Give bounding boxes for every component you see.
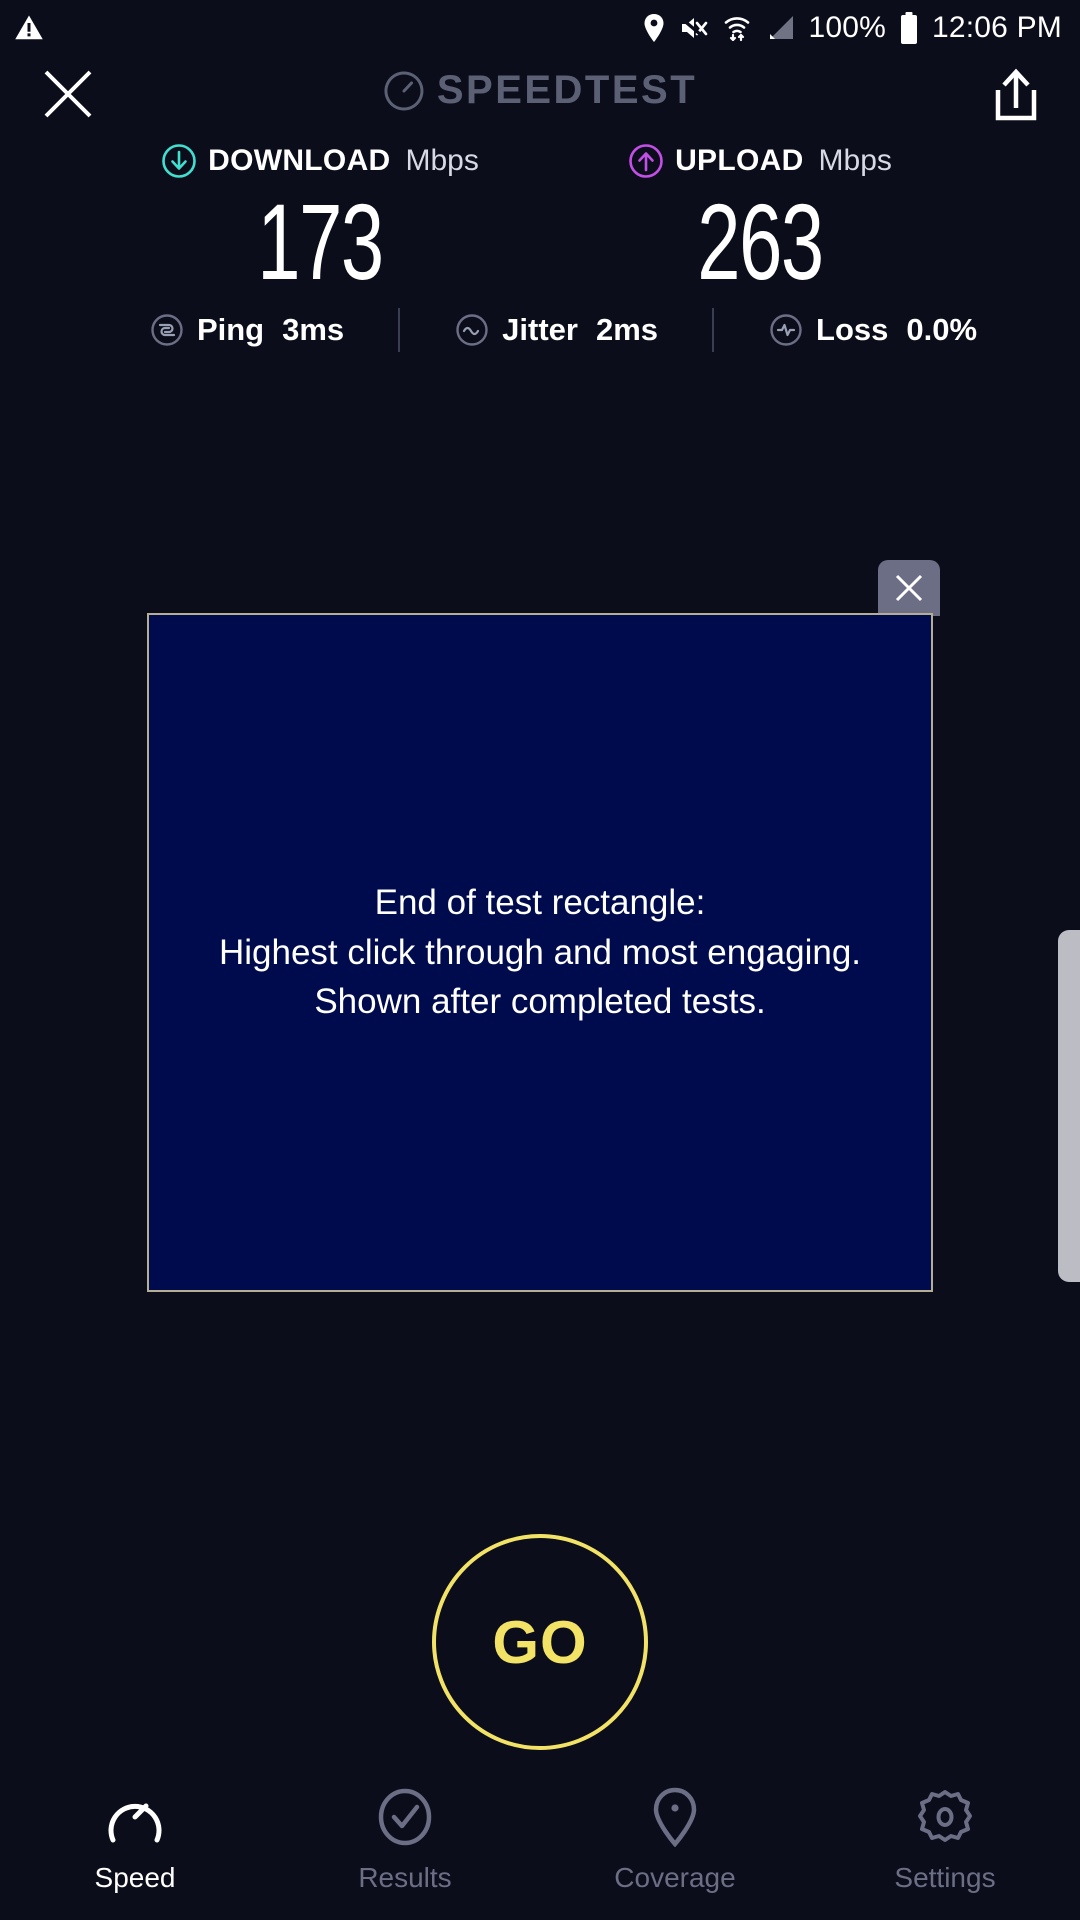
status-bar: 100% 12:06 PM	[0, 0, 1080, 56]
brand-logo: SPEEDTEST	[0, 68, 1080, 113]
stat-loss: Loss 0.0%	[768, 312, 977, 348]
brand-title: SPEEDTEST	[437, 68, 697, 113]
ad-line-3: Shown after completed tests.	[219, 977, 861, 1027]
warning-triangle-icon	[14, 13, 44, 43]
status-bar-clock: 12:06 PM	[932, 13, 1062, 43]
ad-line-2: Highest click through and most engaging.	[219, 928, 861, 978]
share-upload-icon	[988, 66, 1044, 126]
gear-icon	[914, 1787, 976, 1847]
speedtest-app-screen: 100% 12:06 PM SPEEDTEST	[0, 0, 1080, 1920]
nav-label-speed: Speed	[95, 1862, 176, 1894]
ad-close-button[interactable]	[878, 560, 940, 616]
loss-icon	[768, 312, 804, 348]
stat-loss-label: Loss	[816, 312, 888, 348]
stat-jitter: Jitter 2ms	[454, 312, 658, 348]
ad-text-block: End of test rectangle: Highest click thr…	[199, 878, 881, 1027]
ping-icon	[149, 312, 185, 348]
stat-ping-value: 3ms	[282, 312, 344, 348]
download-metric: DOWNLOAD Mbps 173	[130, 140, 510, 296]
check-circle-icon	[374, 1788, 436, 1846]
cellular-signal-icon	[765, 14, 795, 42]
advertisement-banner[interactable]: End of test rectangle: Highest click thr…	[147, 613, 933, 1292]
map-pin-icon	[644, 1787, 706, 1847]
go-button[interactable]: GO	[432, 1534, 648, 1750]
bottom-navigation: Speed Results Coverage	[0, 1770, 1080, 1920]
nav-item-speed[interactable]: Speed	[0, 1786, 270, 1894]
stat-jitter-value: 2ms	[596, 312, 658, 348]
share-button[interactable]	[988, 66, 1044, 126]
ad-close-x-icon	[892, 571, 926, 605]
upload-unit: Mbps	[819, 144, 892, 178]
location-pin-icon	[642, 13, 666, 43]
upload-metric: UPLOAD Mbps 263	[570, 140, 950, 296]
speed-results: DOWNLOAD Mbps 173 UPLOAD Mbps 263	[0, 140, 1080, 296]
nav-item-settings[interactable]: Settings	[810, 1786, 1080, 1894]
wifi-icon	[722, 13, 752, 43]
speedometer-icon	[104, 1788, 166, 1846]
nav-item-coverage[interactable]: Coverage	[540, 1786, 810, 1894]
upload-arrow-icon	[628, 143, 664, 179]
battery-percent-label: 100%	[808, 13, 886, 43]
upload-value: 263	[623, 188, 897, 296]
download-unit: Mbps	[406, 144, 479, 178]
jitter-icon	[454, 312, 490, 348]
download-value: 173	[183, 188, 457, 296]
nav-label-settings: Settings	[894, 1862, 995, 1894]
stat-loss-value: 0.0%	[906, 312, 977, 348]
stat-ping-label: Ping	[197, 312, 264, 348]
battery-full-icon	[899, 12, 919, 44]
volume-mute-icon	[679, 14, 709, 42]
upload-label: UPLOAD	[675, 144, 803, 178]
vertical-scrollbar[interactable]	[1058, 930, 1080, 1282]
nav-label-coverage: Coverage	[614, 1862, 735, 1894]
stat-jitter-label: Jitter	[502, 312, 578, 348]
stats-divider-1	[398, 308, 400, 352]
ad-line-1: End of test rectangle:	[219, 878, 861, 928]
app-header: SPEEDTEST	[0, 56, 1080, 138]
download-label: DOWNLOAD	[208, 144, 390, 178]
speedometer-icon	[383, 70, 425, 112]
nav-item-results[interactable]: Results	[270, 1786, 540, 1894]
go-button-label: GO	[492, 1608, 587, 1677]
nav-label-results: Results	[358, 1862, 451, 1894]
stats-divider-2	[712, 308, 714, 352]
connection-stats-row: Ping 3ms Jitter 2ms Loss 0.0%	[0, 300, 1080, 360]
download-arrow-icon	[161, 143, 197, 179]
stat-ping: Ping 3ms	[149, 312, 344, 348]
